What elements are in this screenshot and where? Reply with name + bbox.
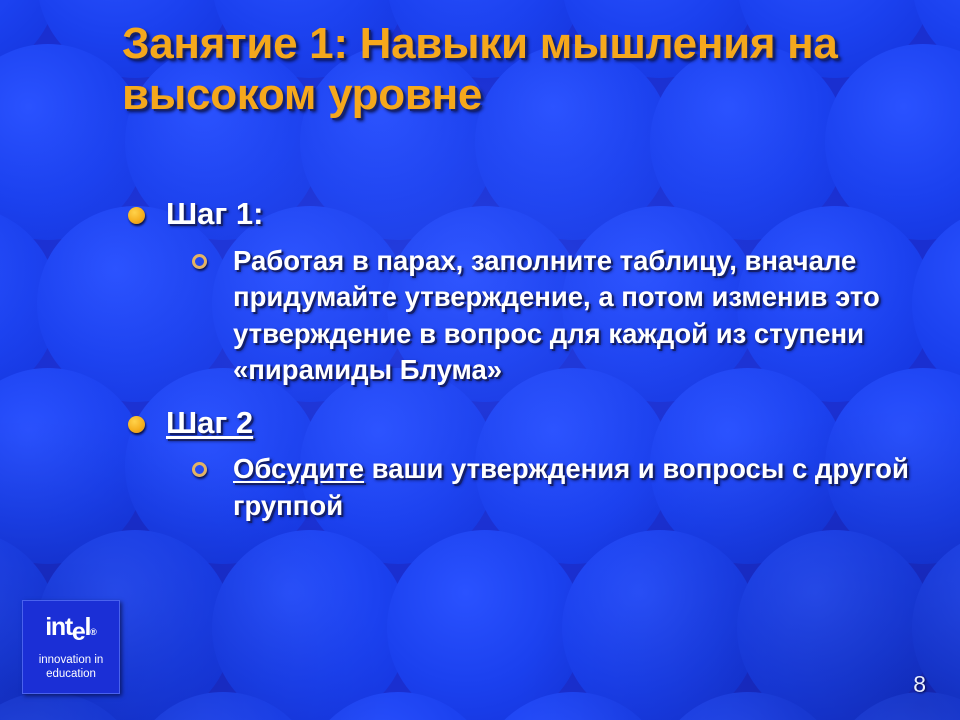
- page-title: Занятие 1: Навыки мышления на высоком ур…: [122, 18, 922, 121]
- title-block: Занятие 1: Навыки мышления на высоком ур…: [122, 18, 922, 121]
- ring-bullet-icon: [192, 254, 207, 269]
- intel-education-logo: intel® innovation in education: [22, 600, 120, 694]
- page-number: 8: [913, 671, 926, 698]
- intel-tagline: innovation in education: [23, 653, 119, 682]
- list-item-step1-detail: Работая в парах, заполните таблицу, внач…: [120, 243, 940, 389]
- intel-dropped-e: e: [72, 620, 85, 645]
- disc-bullet-icon: [128, 207, 145, 224]
- list-item-label: Шаг 2: [166, 405, 253, 440]
- intel-word-start: int: [45, 613, 72, 641]
- list-item-label: Шаг 1:: [166, 196, 263, 231]
- intel-wordmark: intel®: [23, 615, 119, 640]
- ring-bullet-icon: [192, 462, 207, 477]
- disc-bullet-icon: [128, 416, 145, 433]
- slide-content: Занятие 1: Навыки мышления на высоком ур…: [0, 0, 960, 720]
- presentation-slide: Занятие 1: Навыки мышления на высоком ур…: [0, 0, 960, 720]
- list-item-label-group: Обсудите ваши утверждения и вопросы с др…: [233, 453, 909, 521]
- list-item-step2: Шаг 2: [120, 405, 940, 442]
- list-item-label-emphasis: Обсудите: [233, 453, 364, 484]
- body-bullet-list: Шаг 1: Работая в парах, заполните таблиц…: [120, 196, 940, 541]
- registered-trademark-icon: ®: [90, 627, 97, 637]
- list-item-step2-detail: Обсудите ваши утверждения и вопросы с др…: [120, 451, 940, 524]
- list-item-step1: Шаг 1:: [120, 196, 940, 233]
- list-item-label: Работая в парах, заполните таблицу, внач…: [233, 245, 880, 386]
